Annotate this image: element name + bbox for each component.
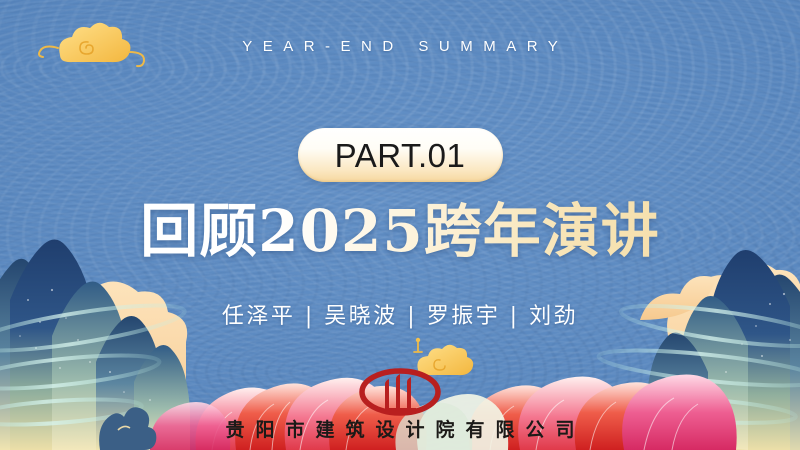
speaker-list: 任泽平 | 吴晓波 | 罗振宇 | 刘劲: [0, 298, 800, 330]
company-emblem-icon: [354, 368, 446, 416]
part-badge-label: PART.01: [335, 139, 466, 172]
presentation-slide: YEAR-END SUMMARY PART.01 回顾2025跨年演讲 任泽平 …: [0, 0, 800, 450]
slide-eyebrow: YEAR-END SUMMARY: [0, 38, 800, 55]
page-title: 回顾2025跨年演讲: [0, 198, 800, 265]
company-name: 贵阳市建筑设计院有限公司: [0, 415, 800, 442]
part-badge[interactable]: PART.01: [298, 128, 503, 182]
